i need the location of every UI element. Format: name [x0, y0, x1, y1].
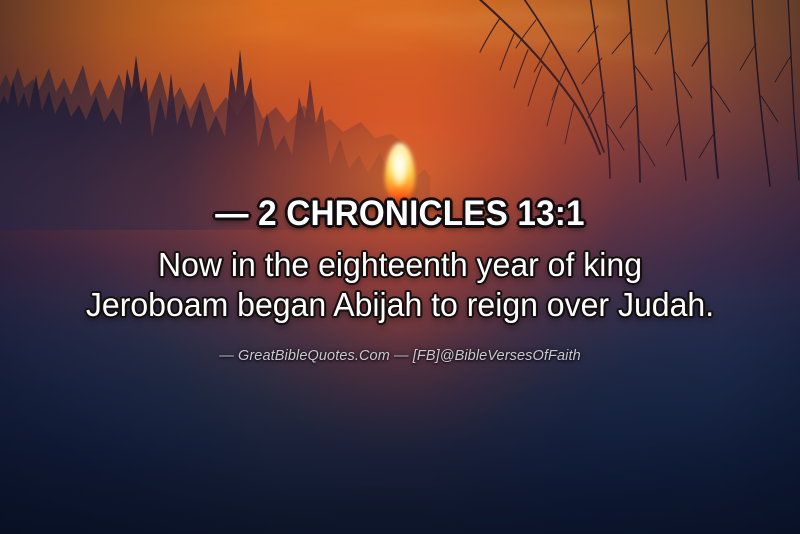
attribution-social-handle: [FB]@BibleVersesOfFaith — [413, 348, 581, 364]
verse-body: Now in the eighteenth year of king Jerob… — [12, 245, 788, 326]
quote-card: — 2 CHRONICLES 13:1 Now in the eighteent… — [0, 0, 800, 534]
attribution-dash-left: — — [219, 348, 234, 364]
attribution-line: — GreatBibleQuotes.Com — [FB]@BibleVerse… — [0, 348, 800, 364]
attribution-dash-right: — — [394, 348, 409, 364]
verse-reference: — 2 CHRONICLES 13:1 — [20, 196, 780, 231]
attribution-site: GreatBibleQuotes.Com — [238, 348, 390, 364]
sun-core-highlight — [390, 152, 409, 186]
quote-text-block: — 2 CHRONICLES 13:1 Now in the eighteent… — [0, 196, 800, 364]
verse-body-line-1: Now in the eighteenth year of king — [12, 245, 788, 285]
verse-body-line-2: Jeroboam began Abijah to reign over Juda… — [12, 285, 788, 325]
